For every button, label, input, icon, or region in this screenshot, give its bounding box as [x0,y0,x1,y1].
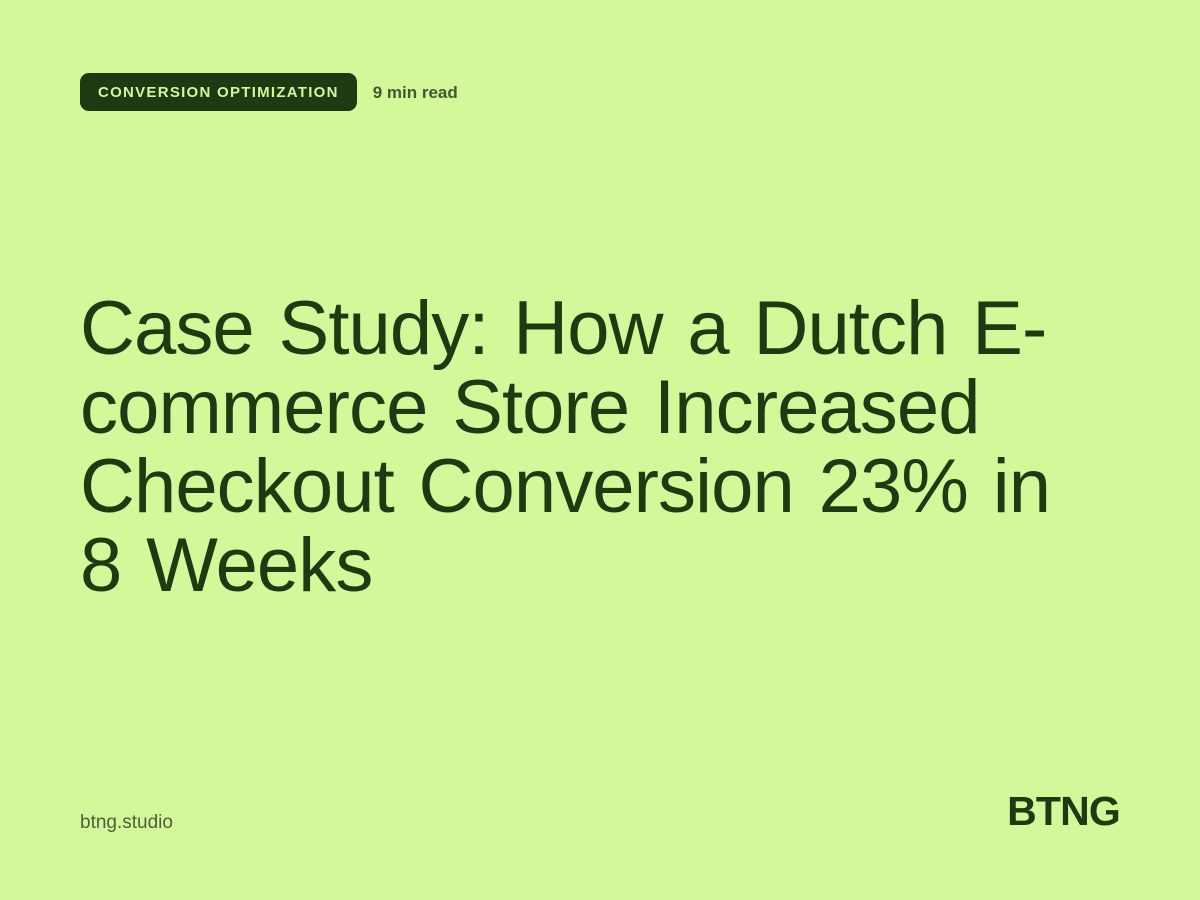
card-header: CONVERSION OPTIMIZATION 9 min read [80,73,458,111]
site-url-label[interactable]: btng.studio [80,813,173,832]
card-footer: btng.studio BTNG [80,791,1120,832]
read-time-label: 9 min read [373,84,458,101]
btng-logo: BTNG [1007,791,1120,832]
category-badge[interactable]: CONVERSION OPTIMIZATION [80,73,357,111]
share-card: CONVERSION OPTIMIZATION 9 min read Case … [0,0,1200,900]
page-title: Case Study: How a Dutch E-commerce Store… [80,289,1090,605]
